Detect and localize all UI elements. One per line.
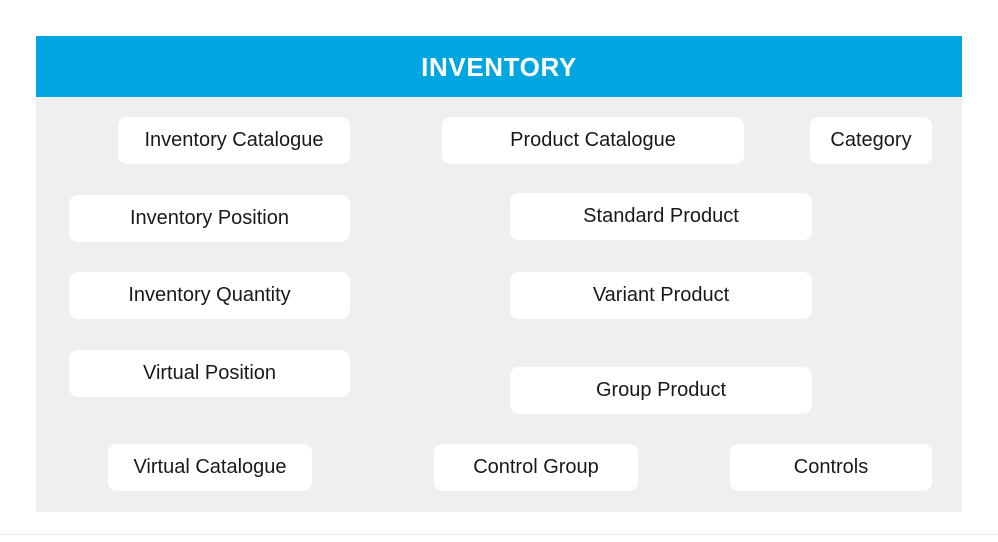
page-title: INVENTORY (421, 54, 577, 80)
inventory-pill-virtual-catalogue[interactable]: Virtual Catalogue (108, 444, 312, 491)
inventory-pill-inventory-catalogue[interactable]: Inventory Catalogue (118, 117, 350, 164)
inventory-pill-control-group[interactable]: Control Group (434, 444, 638, 491)
inventory-pill-product-catalogue[interactable]: Product Catalogue (442, 117, 744, 164)
inventory-pill-group-product[interactable]: Group Product (510, 367, 812, 414)
inventory-pill-standard-product[interactable]: Standard Product (510, 193, 812, 240)
inventory-panel: INVENTORY Inventory CatalogueProduct Cat… (36, 36, 962, 512)
screen-canvas: INVENTORY Inventory CatalogueProduct Cat… (0, 0, 998, 542)
inventory-pill-category[interactable]: Category (810, 117, 932, 164)
panel-header: INVENTORY (36, 36, 962, 97)
bottom-divider (0, 534, 998, 535)
inventory-pill-virtual-position[interactable]: Virtual Position (69, 350, 350, 397)
inventory-pill-inventory-quantity[interactable]: Inventory Quantity (69, 272, 350, 319)
inventory-pill-variant-product[interactable]: Variant Product (510, 272, 812, 319)
inventory-pill-controls[interactable]: Controls (730, 444, 932, 491)
inventory-pill-inventory-position[interactable]: Inventory Position (69, 195, 350, 242)
